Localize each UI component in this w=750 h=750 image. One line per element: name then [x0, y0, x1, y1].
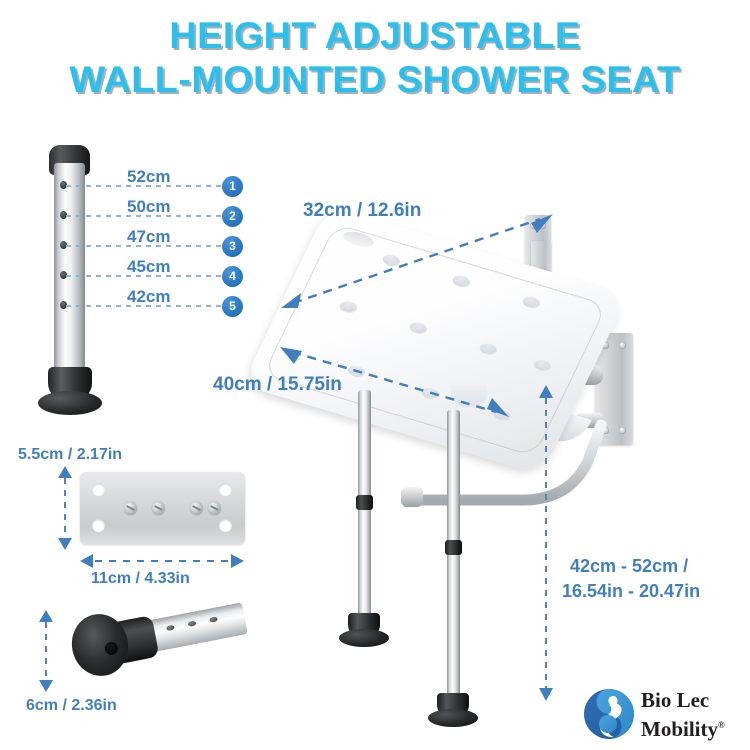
plate-width-label: 11cm / 4.33in	[91, 570, 190, 588]
leg-rear-right-collar	[445, 540, 462, 555]
brand-registered-mark: ®	[718, 720, 725, 730]
position-badge-1: 1	[222, 176, 243, 197]
plate-hole-bl	[92, 519, 105, 532]
bracket-main-hole-2	[619, 342, 626, 349]
leg-tube	[54, 163, 85, 373]
plate-height-label: 5.5cm / 2.17in	[18, 446, 122, 464]
seat-width-label: 32cm / 12.6in	[303, 200, 421, 222]
foot-base-right	[428, 709, 478, 727]
leg-front-left-foot	[339, 613, 389, 647]
plate-height-arrow-up	[58, 466, 72, 478]
brand-logo: Bio Lec Mobility®	[583, 686, 743, 742]
foot-tube-hole-2	[188, 621, 197, 627]
strut-leg-joint	[401, 487, 423, 507]
page-title: HEIGHT ADJUSTABLE WALL-MOUNTED SHOWER SE…	[0, 14, 750, 102]
bracket-main-hole-4	[619, 427, 626, 434]
foot-disc-center	[104, 641, 119, 656]
height-label-5: 42cm	[127, 287, 170, 307]
plate-height-arrow-down	[58, 538, 72, 550]
leg-rear-right-foot	[428, 693, 478, 727]
plate-screw-3	[190, 502, 203, 515]
plate-hole-tl	[92, 483, 105, 496]
plate-screw-2	[152, 502, 165, 515]
foot-diameter-arrow-line	[45, 622, 47, 680]
plate-width-arrow-left	[80, 554, 93, 568]
height-range-dim-line	[545, 398, 547, 690]
height-label-2: 50cm	[127, 197, 170, 217]
plate-width-arrow-right	[231, 554, 244, 568]
leg-rear-right	[447, 410, 460, 700]
position-badge-5: 5	[222, 296, 243, 317]
plate-hole-br	[219, 519, 232, 532]
infographic-canvas: HEIGHT ADJUSTABLE WALL-MOUNTED SHOWER SE…	[0, 0, 750, 750]
position-badge-4: 4	[222, 266, 243, 287]
position-badge-3: 3	[222, 236, 243, 257]
seat-width-dim-line	[293, 219, 540, 303]
height-range-arrow-up	[539, 385, 553, 398]
brand-logo-text: Bio Lec Mobility®	[641, 688, 725, 742]
height-label-4: 45cm	[127, 257, 170, 277]
height-range-label-line1: 42cm - 52cm /	[570, 554, 688, 579]
leg-front-left-collar	[356, 495, 373, 510]
seat-depth-arrow-right	[487, 398, 509, 417]
foot-diameter-arrow-up	[39, 610, 53, 622]
rubber-foot-illustration	[60, 610, 245, 680]
height-label-3: 47cm	[127, 227, 170, 247]
plate-width-arrow-line	[95, 560, 230, 562]
leg-foot-base	[38, 391, 102, 415]
height-range-arrow-down	[539, 688, 553, 701]
seat-width-arrow-left	[281, 293, 301, 308]
title-line-1: HEIGHT ADJUSTABLE	[0, 14, 750, 58]
title-line-2: WALL-MOUNTED SHOWER SEAT	[0, 58, 750, 102]
foot-tube-hole-1	[166, 625, 175, 631]
height-range-label-line2: 16.54in - 20.47in	[562, 579, 700, 604]
foot-tube-hole-3	[209, 616, 218, 622]
brand-name-line1: Bio Lec	[641, 688, 725, 713]
foot-diameter-arrow-down	[39, 680, 53, 692]
position-badge-2: 2	[222, 206, 243, 227]
plate-height-arrow-line	[64, 478, 66, 538]
plate-screw-1	[124, 502, 137, 515]
wall-mounting-plate	[80, 472, 245, 544]
plate-screw-4	[208, 502, 221, 515]
foot-base-left	[339, 629, 389, 647]
plate-hole-tr	[219, 483, 232, 496]
seat-depth-label: 40cm / 15.75in	[213, 374, 342, 396]
brand-name-line2: Mobility	[641, 717, 718, 741]
height-label-1: 52cm	[127, 167, 170, 187]
seat-width-arrow-right	[531, 214, 553, 233]
foot-diameter-label: 6cm / 2.36in	[26, 697, 117, 715]
leg-rubber-foot	[38, 367, 102, 415]
support-strut-path	[415, 425, 601, 500]
brand-logo-icon	[583, 688, 635, 740]
seat-depth-arrow-left	[280, 347, 302, 364]
brand-name-line2-wrap: Mobility®	[641, 713, 725, 742]
